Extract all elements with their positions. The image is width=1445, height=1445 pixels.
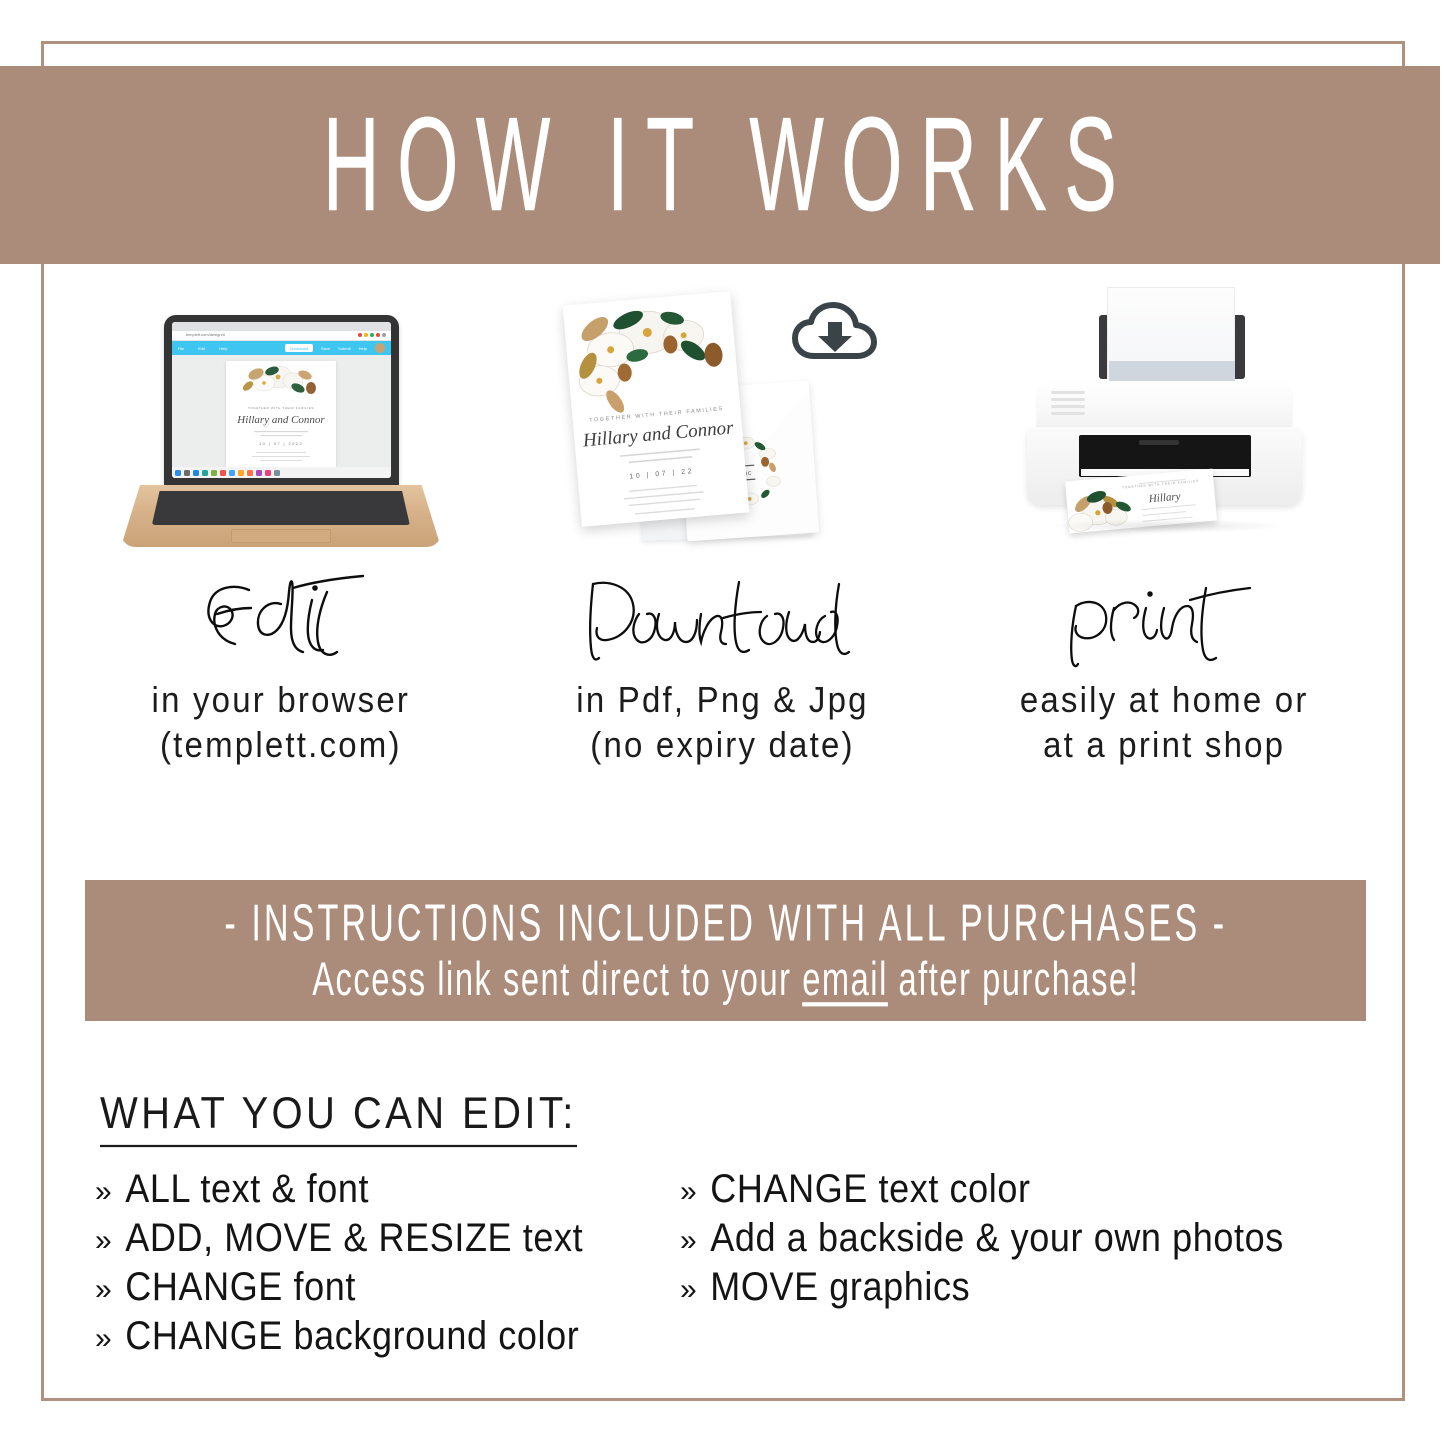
bullet-icon: » [95, 1272, 112, 1307]
windows-taskbar [172, 467, 391, 478]
list-item: » ALL text & font [95, 1170, 680, 1212]
step-print: TOGETHER WITH THEIR FAMILIES Hillary [943, 285, 1385, 805]
list-item: » CHANGE font [95, 1268, 680, 1310]
step-download-caption-line1: in Pdf, Png & Jpg [576, 677, 868, 722]
step-download-caption: in Pdf, Png & Jpg (no expiry date) [576, 677, 868, 768]
list-item-label: Add a backside & your own photos [710, 1215, 1284, 1261]
bullet-icon: » [680, 1223, 697, 1258]
step-edit: templett.com/design/# File Edit Help [60, 285, 502, 805]
instructions-subline-before: Access link sent direct to your [312, 953, 802, 1006]
svg-text:Hillary and Connor: Hillary and Connor [237, 414, 326, 426]
list-item-label: ALL text & font [125, 1166, 369, 1212]
invitation-card: TOGETHER WITH THEIR FAMILIES Hillary and… [562, 291, 749, 527]
cloud-download-icon [792, 302, 878, 368]
browser-url-text: templett.com/design/# [186, 332, 225, 337]
list-item: » CHANGE text color [680, 1170, 1385, 1212]
instructions-subline: Access link sent direct to your email af… [312, 953, 1139, 1008]
printer-slot-handle [1139, 440, 1179, 445]
instructions-email-emphasis: email [802, 953, 888, 1006]
step-print-caption: easily at home or at a print shop [1020, 677, 1309, 768]
step-download-script-label [502, 569, 944, 681]
app-action-help: Help [359, 346, 367, 351]
editor-canvas-area: TOGETHER WITH THEIR FAMILIES Hillary and… [172, 355, 391, 467]
bullet-icon: » [680, 1272, 697, 1307]
invitation-preview-graphic: TOGETHER WITH THEIR FAMILIES Hillary and… [226, 361, 336, 467]
invitation-card-graphic: TOGETHER WITH THEIR FAMILIES Hillary and… [562, 291, 749, 527]
app-download-button: Download [285, 344, 313, 352]
invitation-illustration: HC [558, 290, 888, 555]
list-item: » CHANGE background color [95, 1317, 680, 1359]
list-item-label: ADD, MOVE & RESIZE text [125, 1215, 583, 1261]
steps-row: templett.com/design/# File Edit Help [60, 285, 1385, 805]
list-item-label: CHANGE background color [125, 1313, 579, 1359]
svg-text:10 | 07 | 2022: 10 | 07 | 2022 [259, 441, 303, 446]
instructions-subline-after: after purchase! [888, 953, 1139, 1006]
bullet-icon: » [95, 1174, 112, 1209]
step-download-artwork: HC [502, 285, 944, 555]
app-menu-help: Help [219, 346, 227, 351]
script-download [553, 570, 893, 680]
edit-section-title: WHAT YOU CAN EDIT: [100, 1089, 577, 1147]
svg-text:TOGETHER WITH THEIR FAMILIES: TOGETHER WITH THEIR FAMILIES [1122, 479, 1200, 490]
laptop-illustration: templett.com/design/# File Edit Help [116, 315, 446, 555]
list-item: » Add a backside & your own photos [680, 1219, 1385, 1261]
bullet-icon: » [95, 1321, 112, 1356]
browser-extension-icons [358, 333, 386, 337]
invitation-preview: TOGETHER WITH THEIR FAMILIES Hillary and… [226, 361, 336, 467]
instructions-banner: - INSTRUCTIONS INCLUDED WITH ALL PURCHAS… [85, 880, 1366, 1021]
avatar [375, 343, 385, 353]
header-banner: HOW IT WORKS [0, 66, 1440, 264]
step-edit-caption-line2: (templett.com) [152, 722, 411, 767]
step-edit-script-label [60, 569, 502, 681]
laptop-screen: templett.com/design/# File Edit Help [172, 322, 391, 478]
bullet-icon: » [95, 1223, 112, 1258]
script-print [1014, 570, 1314, 680]
printer-illustration: TOGETHER WITH THEIR FAMILIES Hillary [999, 287, 1329, 555]
script-edit [131, 570, 431, 680]
laptop-keyboard [152, 491, 410, 525]
step-edit-caption: in your browser (templett.com) [152, 677, 411, 768]
step-edit-caption-line1: in your browser [152, 677, 411, 722]
printer-control-panel [1051, 391, 1085, 417]
edit-features-right-column: » CHANGE text color » Add a backside & y… [680, 1170, 1385, 1366]
browser-tab-bar [172, 322, 391, 331]
printer-shadow [1047, 519, 1287, 533]
list-item-label: CHANGE text color [710, 1166, 1030, 1212]
laptop-lid: templett.com/design/# File Edit Help [164, 315, 399, 487]
step-download: HC [502, 285, 944, 805]
step-print-script-label [943, 569, 1385, 681]
instructions-headline: - INSTRUCTIONS INCLUDED WITH ALL PURCHAS… [224, 892, 1227, 953]
app-actions: Download Save Submit Help [285, 343, 385, 353]
step-print-caption-line1: easily at home or [1020, 677, 1309, 722]
app-menu-edit: Edit [198, 346, 205, 351]
svg-text:10 | 07 | 22: 10 | 07 | 22 [629, 468, 694, 481]
page-title: HOW IT WORKS [306, 98, 1135, 231]
list-item-label: MOVE graphics [710, 1264, 970, 1310]
poster-canvas: HOW IT WORKS templett.com/design/# [0, 0, 1445, 1445]
list-item: » ADD, MOVE & RESIZE text [95, 1219, 680, 1261]
templett-app-bar: File Edit Help Download Save Submit Help [172, 341, 391, 355]
list-item-label: CHANGE font [125, 1264, 356, 1310]
step-download-caption-line2: (no expiry date) [576, 722, 868, 767]
laptop-trackpad [231, 529, 331, 543]
bullet-icon: » [680, 1174, 697, 1209]
step-edit-artwork: templett.com/design/# File Edit Help [60, 285, 502, 555]
list-item: » MOVE graphics [680, 1268, 1385, 1310]
edit-features-left-column: » ALL text & font » ADD, MOVE & RESIZE t… [95, 1170, 680, 1366]
step-print-artwork: TOGETHER WITH THEIR FAMILIES Hillary [943, 285, 1385, 555]
app-action-save: Save [321, 346, 330, 351]
svg-text:TOGETHER WITH THEIR FAMILIES: TOGETHER WITH THEIR FAMILIES [248, 406, 314, 410]
app-action-submit: Submit [338, 346, 350, 351]
edit-features-columns: » ALL text & font » ADD, MOVE & RESIZE t… [95, 1170, 1385, 1366]
svg-text:Hillary: Hillary [1148, 491, 1182, 506]
app-menu-file: File [178, 346, 184, 351]
step-print-caption-line2: at a print shop [1020, 722, 1309, 767]
